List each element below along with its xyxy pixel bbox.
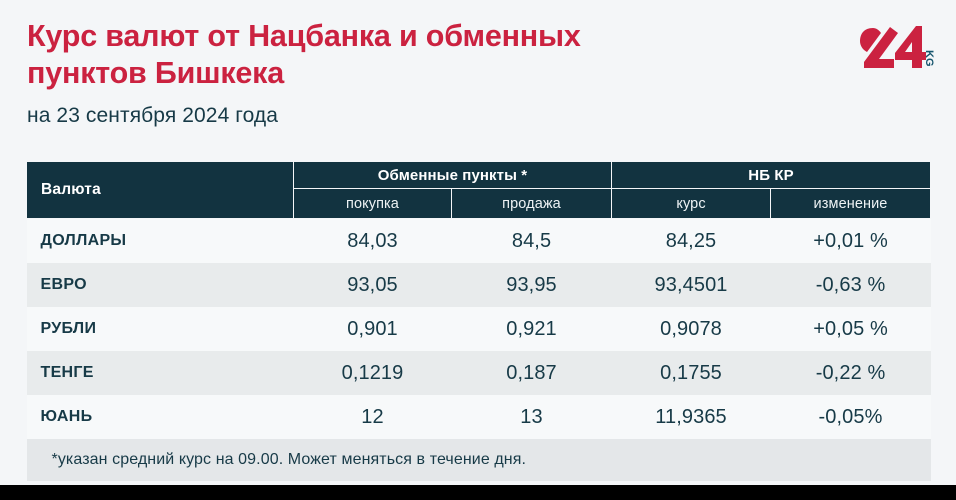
cell-rate: 11,9365 <box>612 395 771 439</box>
cell-currency: ДОЛЛАРЫ <box>27 219 294 264</box>
svg-text:KG: KG <box>923 50 935 67</box>
cell-change: -0,22 % <box>771 351 931 395</box>
logo-24-mark <box>860 26 926 68</box>
cell-rate: 0,1755 <box>612 351 771 395</box>
cell-buy: 12 <box>294 395 452 439</box>
cell-change: +0,05 % <box>771 307 931 351</box>
cell-change: +0,01 % <box>771 219 931 264</box>
cell-currency: РУБЛИ <box>27 307 294 351</box>
bottom-bar <box>0 485 956 500</box>
column-group-national-bank: НБ КР <box>612 162 931 189</box>
cell-sell: 13 <box>452 395 612 439</box>
currency-rates-table: Валюта Обменные пункты * НБ КР покупка п… <box>26 161 931 481</box>
table-row: ДОЛЛАРЫ 84,03 84,5 84,25 +0,01 % <box>27 219 931 264</box>
page-subtitle: на 23 сентября 2024 года <box>27 104 278 128</box>
cell-sell: 93,95 <box>452 263 612 307</box>
table-row: ЮАНЬ 12 13 11,9365 -0,05% <box>27 395 931 439</box>
page-title: Курс валют от Нацбанка и обменных пункто… <box>27 18 667 91</box>
table-footnote: *указан средний курс на 09.00. Может мен… <box>27 439 931 481</box>
table-row: РУБЛИ 0,901 0,921 0,9078 +0,05 % <box>27 307 931 351</box>
table-row: ЕВРО 93,05 93,95 93,4501 -0,63 % <box>27 263 931 307</box>
table-body: ДОЛЛАРЫ 84,03 84,5 84,25 +0,01 % ЕВРО 93… <box>27 219 931 482</box>
cell-currency: ЕВРО <box>27 263 294 307</box>
cell-rate: 0,9078 <box>612 307 771 351</box>
cell-sell: 84,5 <box>452 219 612 264</box>
cell-sell: 0,921 <box>452 307 612 351</box>
cell-buy: 84,03 <box>294 219 452 264</box>
table-footnote-row: *указан средний курс на 09.00. Может мен… <box>27 439 931 481</box>
cell-change: -0,63 % <box>771 263 931 307</box>
cell-rate: 84,25 <box>612 219 771 264</box>
cell-buy: 0,1219 <box>294 351 452 395</box>
column-header-rate: курс <box>612 189 771 219</box>
column-group-exchange-offices: Обменные пункты * <box>294 162 612 189</box>
cell-buy: 93,05 <box>294 263 452 307</box>
logo-kg-text: KG <box>923 50 935 67</box>
table-head: Валюта Обменные пункты * НБ КР покупка п… <box>27 162 931 219</box>
cell-currency: ЮАНЬ <box>27 395 294 439</box>
cell-change: -0,05% <box>771 395 931 439</box>
currency-rates-table-wrapper: Валюта Обменные пункты * НБ КР покупка п… <box>26 161 930 481</box>
cell-currency: ТЕНГЕ <box>27 351 294 395</box>
column-header-change: изменение <box>771 189 931 219</box>
cell-rate: 93,4501 <box>612 263 771 307</box>
page-header: Курс валют от Нацбанка и обменных пункто… <box>0 0 956 150</box>
cell-sell: 0,187 <box>452 351 612 395</box>
column-header-sell: продажа <box>452 189 612 219</box>
column-header-buy: покупка <box>294 189 452 219</box>
24kg-logo: KG <box>860 22 938 68</box>
cell-buy: 0,901 <box>294 307 452 351</box>
column-header-currency: Валюта <box>27 162 294 219</box>
header-row-groups: Валюта Обменные пункты * НБ КР <box>27 162 931 189</box>
table-row: ТЕНГЕ 0,1219 0,187 0,1755 -0,22 % <box>27 351 931 395</box>
